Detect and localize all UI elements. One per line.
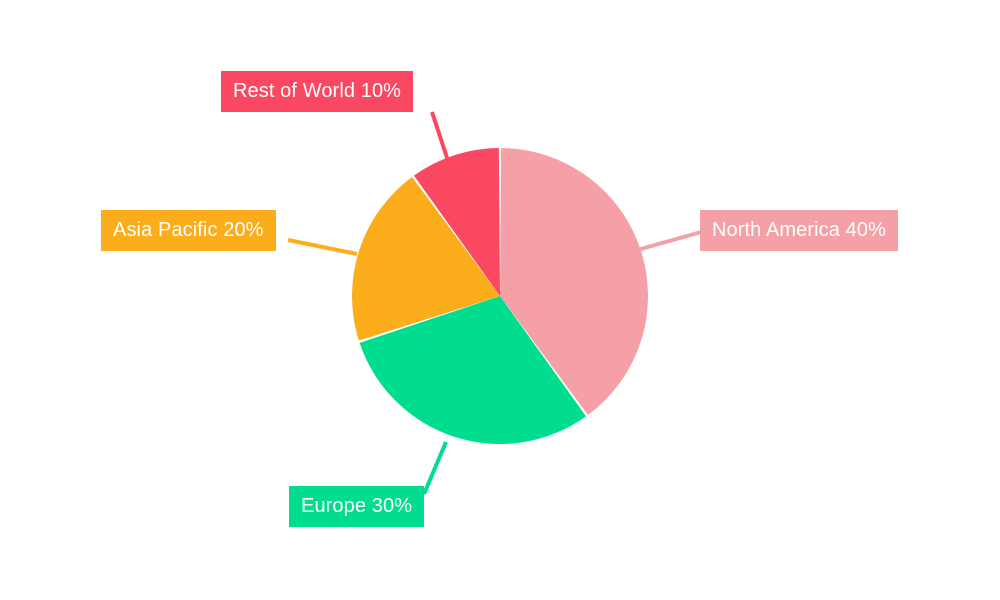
leader-line-europe — [424, 442, 446, 494]
leader-line-asia-pacific — [288, 240, 357, 254]
pie-chart: North America 40% Europe 30% Asia Pacifi… — [0, 0, 1000, 600]
pie-label-rest-of-world: Rest of World 10% — [221, 71, 413, 112]
pie-label-europe: Europe 30% — [289, 486, 424, 527]
pie-label-asia-pacific: Asia Pacific 20% — [101, 210, 276, 251]
pie-slices — [352, 148, 648, 444]
pie-label-north-america: North America 40% — [700, 210, 898, 251]
pie-chart-canvas — [0, 0, 1000, 600]
